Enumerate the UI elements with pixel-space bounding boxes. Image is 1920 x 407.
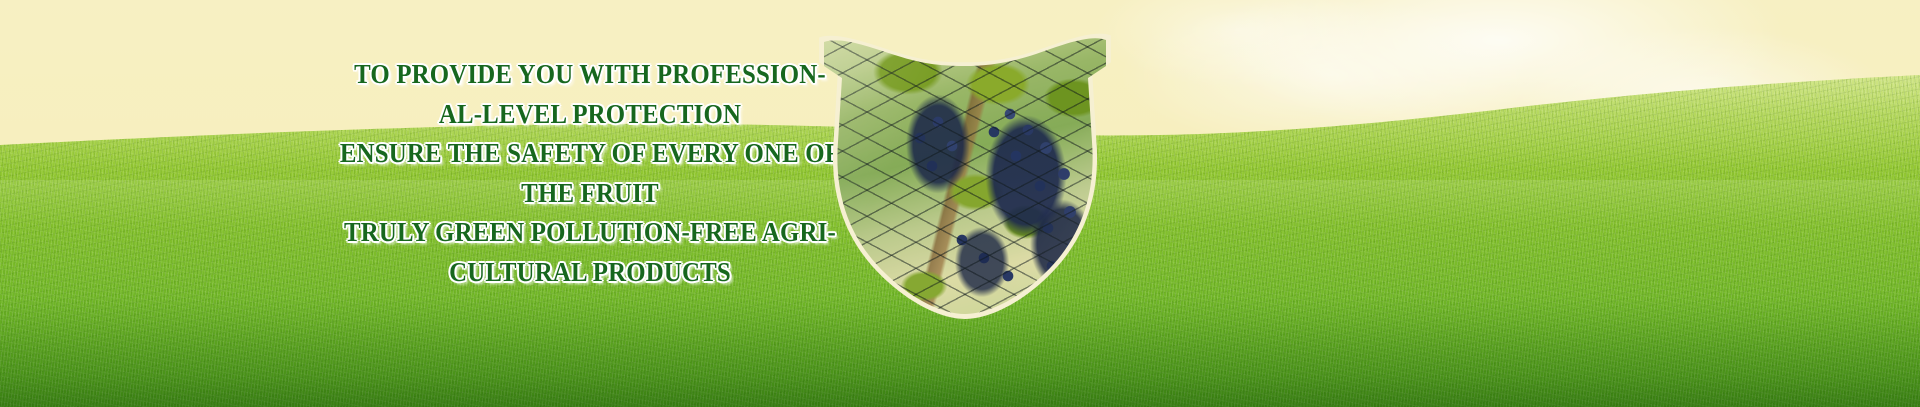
slogan-text-block: TO PROVIDE YOU WITH PROFESSION- AL-LEVEL… [300,55,880,292]
slogan-line-2: AL-LEVEL PROTECTION [323,95,857,135]
slogan-line-6: CULTURAL PRODUCTS [323,253,857,293]
slogan-line-1: TO PROVIDE YOU WITH PROFESSION- [323,55,857,95]
shield-emblem [812,26,1118,318]
slogan-line-3: ENSURE THE SAFETY OF EVERY ONE OF [323,134,857,174]
slogan-line-5: TRULY GREEN POLLUTION-FREE AGRI- [323,213,857,253]
slogan-line-4: THE FRUIT [323,174,857,214]
hero-banner: TO PROVIDE YOU WITH PROFESSION- AL-LEVEL… [0,0,1920,407]
grape-vineyard-image [812,26,1118,318]
